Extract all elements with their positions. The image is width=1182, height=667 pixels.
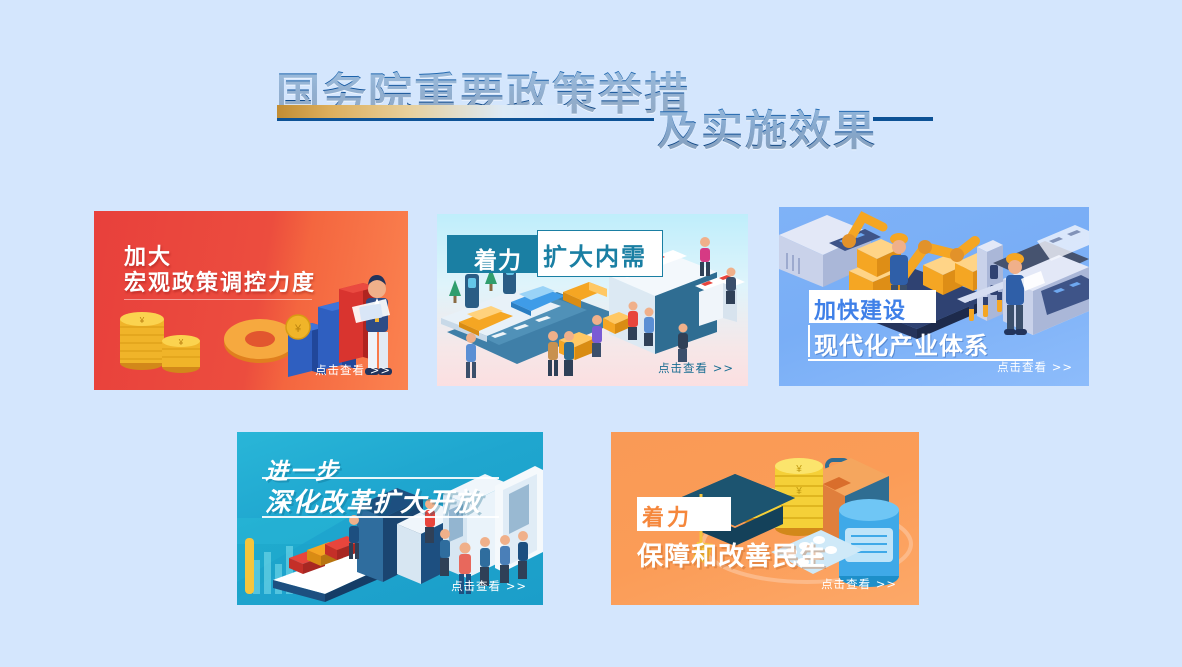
card1-title-line-2: 宏观政策调控力度 [124, 265, 316, 297]
svg-text:¥: ¥ [294, 323, 302, 335]
title-dash-decoration [873, 117, 933, 121]
title-gold-underline [277, 105, 567, 118]
policy-card-livelihood[interactable]: ¥ ¥ ¥ [611, 432, 919, 605]
card4-title-line-2: 深化改革扩大开放 [265, 482, 481, 519]
policy-card-expand-demand[interactable]: 着力 扩大内需 点击查看 >> [437, 214, 748, 386]
card1-title-rule [124, 299, 312, 300]
card2-title-line-1: 着力 [474, 241, 522, 275]
svg-text:¥: ¥ [795, 486, 802, 497]
highlight-bar [245, 538, 254, 594]
card3-left-bar [808, 325, 810, 357]
page-header: 国务院重要政策举措 及实施效果 [0, 0, 1182, 180]
floating-coin: ¥ [286, 315, 310, 339]
card2-title-line-2: 扩大内需 [543, 237, 647, 272]
card3-title-line-1: 加快建设 [814, 293, 906, 325]
robot-joint [842, 234, 856, 248]
policy-card-industrial-system[interactable]: 加快建设 现代化产业体系 点击查看 >> [779, 207, 1089, 386]
card4-rule-bottom [262, 516, 499, 518]
card4-cta-link[interactable]: 点击查看 >> [451, 578, 527, 594]
card5-cta-link[interactable]: 点击查看 >> [821, 576, 897, 592]
page-title-line-2: 及实施效果 [657, 97, 877, 158]
svg-text:¥: ¥ [139, 316, 145, 325]
policy-card-reform-opening[interactable]: 进一步 深化改革扩大开放 点击查看 >> [237, 432, 543, 605]
title-rule [277, 118, 654, 121]
coin-stack-tall: ¥ [120, 312, 164, 370]
svg-text:¥: ¥ [178, 338, 184, 347]
card3-title-line-2: 现代化产业体系 [814, 326, 989, 361]
card3-cta-link[interactable]: 点击查看 >> [997, 359, 1073, 375]
card5-title-line-1: 着力 [642, 500, 692, 532]
coin-stack-short: ¥ [162, 335, 200, 373]
svg-text:¥: ¥ [795, 464, 802, 475]
card4-rule-top [262, 477, 499, 479]
card1-cta-link[interactable]: 点击查看 >> [315, 362, 391, 378]
torus-shape [224, 319, 296, 363]
policy-card-macro-regulation[interactable]: ¥ ¥ [94, 211, 408, 390]
card4-title-line-1: 进一步 [265, 452, 340, 486]
card2-cta-link[interactable]: 点击查看 >> [658, 360, 734, 376]
card5-title-line-2: 保障和改善民生 [637, 536, 826, 573]
